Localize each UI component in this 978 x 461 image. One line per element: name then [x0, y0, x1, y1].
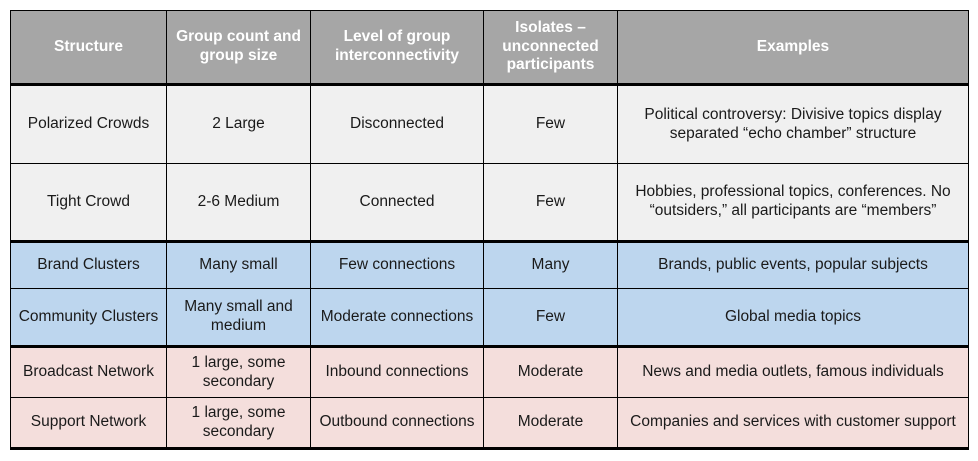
cell-structure: Community Clusters [11, 289, 167, 347]
cell-group-count: 2-6 Medium [167, 164, 311, 242]
cell-isolates: Few [484, 164, 618, 242]
cell-isolates: Few [484, 85, 618, 164]
cell-structure: Support Network [11, 398, 167, 449]
cell-isolates: Few [484, 289, 618, 347]
table-body: Polarized Crowds 2 Large Disconnected Fe… [11, 85, 969, 449]
table-row: Tight Crowd 2-6 Medium Connected Few Hob… [11, 164, 969, 242]
cell-interconnectivity: Few connections [311, 242, 484, 289]
table-row: Support Network 1 large, some secondary … [11, 398, 969, 449]
cell-structure: Tight Crowd [11, 164, 167, 242]
column-header-structure: Structure [11, 11, 167, 85]
cell-group-count: Many small [167, 242, 311, 289]
cell-interconnectivity: Disconnected [311, 85, 484, 164]
column-header-examples: Examples [618, 11, 969, 85]
cell-examples: Brands, public events, popular subjects [618, 242, 969, 289]
table-row: Broadcast Network 1 large, some secondar… [11, 347, 969, 398]
cell-group-count: Many small and medium [167, 289, 311, 347]
cell-isolates: Moderate [484, 398, 618, 449]
cell-isolates: Moderate [484, 347, 618, 398]
cell-interconnectivity: Inbound connections [311, 347, 484, 398]
cell-interconnectivity: Outbound connections [311, 398, 484, 449]
cell-group-count: 2 Large [167, 85, 311, 164]
cell-group-count: 1 large, some secondary [167, 398, 311, 449]
cell-examples: Political controversy: Divisive topics d… [618, 85, 969, 164]
table-row: Brand Clusters Many small Few connection… [11, 242, 969, 289]
cell-structure: Broadcast Network [11, 347, 167, 398]
column-header-isolates: Isolates – unconnected participants [484, 11, 618, 85]
cell-examples: Global media topics [618, 289, 969, 347]
social-media-network-structures-table-container: Structure Group count and group size Lev… [10, 10, 968, 448]
cell-examples: Companies and services with customer sup… [618, 398, 969, 449]
cell-structure: Brand Clusters [11, 242, 167, 289]
column-header-group-count: Group count and group size [167, 11, 311, 85]
table-header: Structure Group count and group size Lev… [11, 11, 969, 85]
table-row: Community Clusters Many small and medium… [11, 289, 969, 347]
table-row: Polarized Crowds 2 Large Disconnected Fe… [11, 85, 969, 164]
cell-group-count: 1 large, some secondary [167, 347, 311, 398]
cell-structure: Polarized Crowds [11, 85, 167, 164]
network-structures-table: Structure Group count and group size Lev… [10, 10, 969, 450]
header-row: Structure Group count and group size Lev… [11, 11, 969, 85]
cell-interconnectivity: Connected [311, 164, 484, 242]
cell-examples: Hobbies, professional topics, conference… [618, 164, 969, 242]
cell-isolates: Many [484, 242, 618, 289]
cell-examples: News and media outlets, famous individua… [618, 347, 969, 398]
cell-interconnectivity: Moderate connections [311, 289, 484, 347]
column-header-interconnectivity: Level of group interconnectivity [311, 11, 484, 85]
